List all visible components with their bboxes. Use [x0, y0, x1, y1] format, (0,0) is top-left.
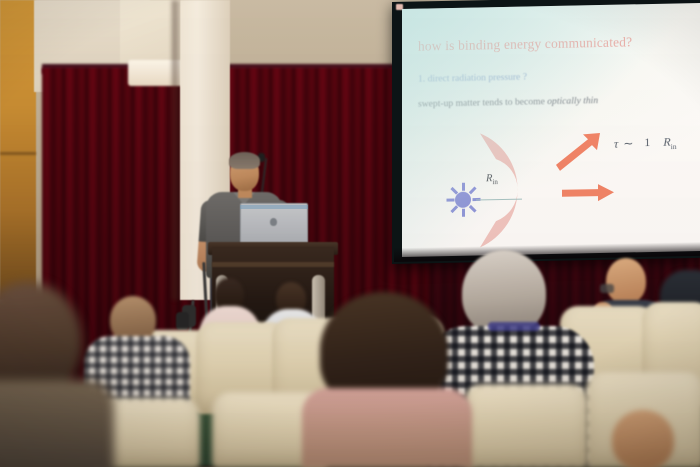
star-ray	[468, 186, 476, 194]
star-ray	[468, 205, 476, 213]
slide-statement: swept-up matter tends to become opticall…	[418, 95, 598, 110]
apple-logo-icon	[270, 218, 277, 226]
equation-numerator: 1	[638, 135, 656, 150]
equation-relation: ∼	[623, 136, 633, 151]
head	[606, 258, 646, 304]
chair	[464, 384, 588, 467]
radiation-arrow-horizontal	[560, 183, 616, 204]
slide-statement-prefix: swept-up matter tends to become	[418, 96, 547, 110]
star-ray	[462, 209, 465, 217]
lectern-trim	[212, 262, 334, 267]
presenter-hair	[229, 152, 260, 169]
slide-bullet-1: 1. direct radiation pressure ?	[418, 71, 527, 84]
head	[612, 410, 674, 467]
radiation-arrow-diagonal	[554, 131, 604, 172]
star-ray	[450, 187, 458, 195]
star-ray	[450, 205, 458, 213]
star-icon	[446, 182, 480, 217]
wood-wall-panel	[0, 0, 36, 300]
equation-denominator: Rin	[659, 133, 680, 148]
slide-equation: τ ∼ 1 Rin	[614, 135, 681, 152]
glasses-icon	[600, 284, 614, 293]
laptop-screen-content	[240, 205, 308, 209]
slide-title: how is binding energy communicated?	[418, 34, 632, 54]
handheld-device-2	[176, 312, 189, 330]
conference-photo: how is binding energy communicated? 1. d…	[0, 0, 700, 467]
torso-floral-top	[302, 388, 472, 467]
equation-fraction: 1 Rin	[638, 135, 680, 151]
torso	[0, 380, 114, 467]
slide-statement-emphasis: optically thin	[547, 95, 598, 107]
equation-lhs: τ	[614, 137, 618, 152]
star-ray	[462, 183, 465, 191]
projection-screen: how is binding energy communicated? 1. d…	[402, 3, 700, 257]
star-ray	[446, 198, 454, 201]
wood-panel-seam	[0, 152, 36, 155]
radius-label: Rin	[486, 173, 498, 186]
lanyard	[488, 322, 540, 331]
